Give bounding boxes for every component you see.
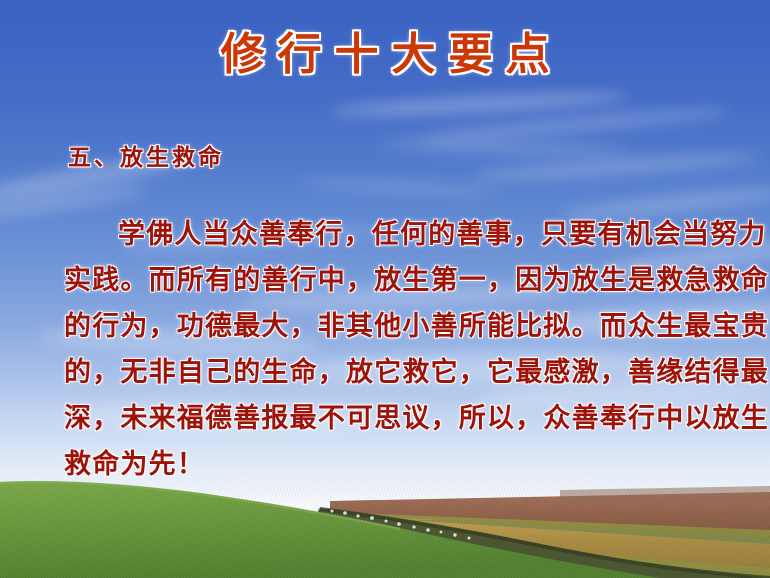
slide-body-text: 学佛人当众善奉行，任何的善事，只要有机会当努力 实践。而所有的善行中，放生第一，…	[64, 212, 764, 488]
body-line: 学佛人当众善奉行，任何的善事，只要有机会当努力	[64, 212, 764, 258]
presentation-slide: 修行十大要点 五、放生救命 学佛人当众善奉行，任何的善事，只要有机会当努力 实践…	[0, 0, 770, 578]
body-line: 的行为，功德最大，非其他小善所能比拟。而众生最宝贵	[64, 304, 764, 350]
slide-subtitle: 五、放生救命	[68, 138, 224, 172]
body-line: 深，未来福德善报最不可思议，所以，众善奉行中以放生	[64, 396, 764, 442]
cloud-streak	[420, 105, 730, 145]
cloud-streak	[380, 138, 630, 158]
cloud-streak	[330, 88, 630, 120]
slide-title: 修行十大要点	[0, 32, 770, 78]
body-line: 实践。而所有的善行中，放生第一，因为放生是救急救命	[64, 258, 764, 304]
body-line: 救命为先！	[64, 442, 764, 488]
distant-ridge	[560, 486, 770, 502]
cloud-streak	[470, 150, 760, 184]
cloud-streak	[300, 177, 500, 197]
body-line: 的，无非自己的生命，放它救它，它最感激，善缘结得最	[64, 350, 764, 396]
